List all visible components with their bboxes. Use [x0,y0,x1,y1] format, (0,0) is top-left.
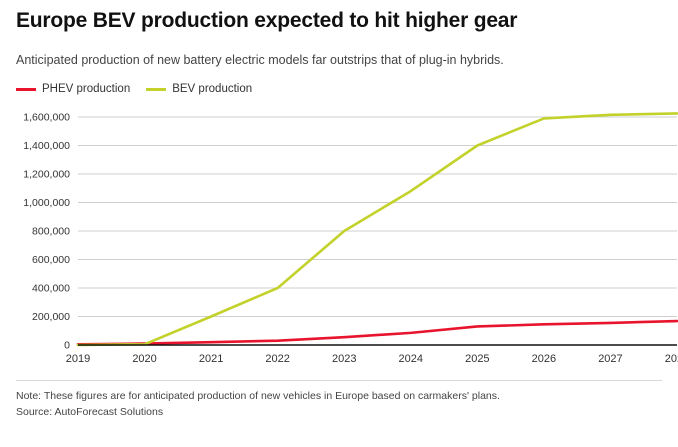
x-axis-tick-label: 2028 [665,353,678,365]
legend-item-bev[interactable]: BEV production [146,83,252,95]
chart-subtitle: Anticipated production of new battery el… [16,52,666,68]
footer-divider [16,380,662,381]
x-axis-tick-label: 2025 [465,353,489,365]
y-axis-tick-label: 0 [64,340,70,352]
legend-item-phev[interactable]: PHEV production [16,83,130,95]
x-axis-tick-label: 2026 [532,353,556,365]
x-axis-tick-label: 2019 [66,353,90,365]
y-axis-tick-label: 1,400,000 [23,140,70,152]
y-axis-tick-label: 400,000 [32,283,70,295]
y-axis-tick-label: 1,600,000 [23,112,70,124]
series-line-bev [78,113,677,345]
legend-label-phev: PHEV production [42,83,130,95]
y-axis-labels: 0200,000400,000600,000800,0001,000,0001,… [23,112,70,352]
footer: Note: These figures are for anticipated … [16,388,666,420]
x-axis-tick-label: 2022 [265,353,289,365]
page-title: Europe BEV production expected to hit hi… [16,8,666,34]
footer-note: Note: These figures are for anticipated … [16,388,666,404]
legend-label-bev: BEV production [172,83,252,95]
y-axis-tick-label: 1,000,000 [23,197,70,209]
chart-legend: PHEV production BEV production [16,80,252,98]
x-axis-tick-label: 2023 [332,353,356,365]
footer-source: Source: AutoForecast Solutions [16,404,666,420]
legend-swatch-phev-icon [16,88,36,91]
chart-figure: Europe BEV production expected to hit hi… [0,0,678,447]
chart-canvas: 0200,000400,000600,000800,0001,000,0001,… [0,100,678,370]
x-axis-labels: 2019202020212022202320242025202620272028 [66,353,678,365]
plot-area: 0200,000400,000600,000800,0001,000,0001,… [0,100,678,370]
y-axis-tick-label: 800,000 [32,226,70,238]
x-axis-tick-label: 2021 [199,353,223,365]
series-line-phev [78,321,677,344]
legend-swatch-bev-icon [146,88,166,91]
gridlines [78,117,677,317]
x-axis-tick-label: 2020 [132,353,156,365]
series-lines [78,113,677,345]
y-axis-tick-label: 1,200,000 [23,169,70,181]
y-axis-tick-label: 600,000 [32,254,70,266]
x-axis-tick-label: 2024 [399,353,423,365]
x-axis-tick-label: 2027 [598,353,622,365]
y-axis-tick-label: 200,000 [32,311,70,323]
